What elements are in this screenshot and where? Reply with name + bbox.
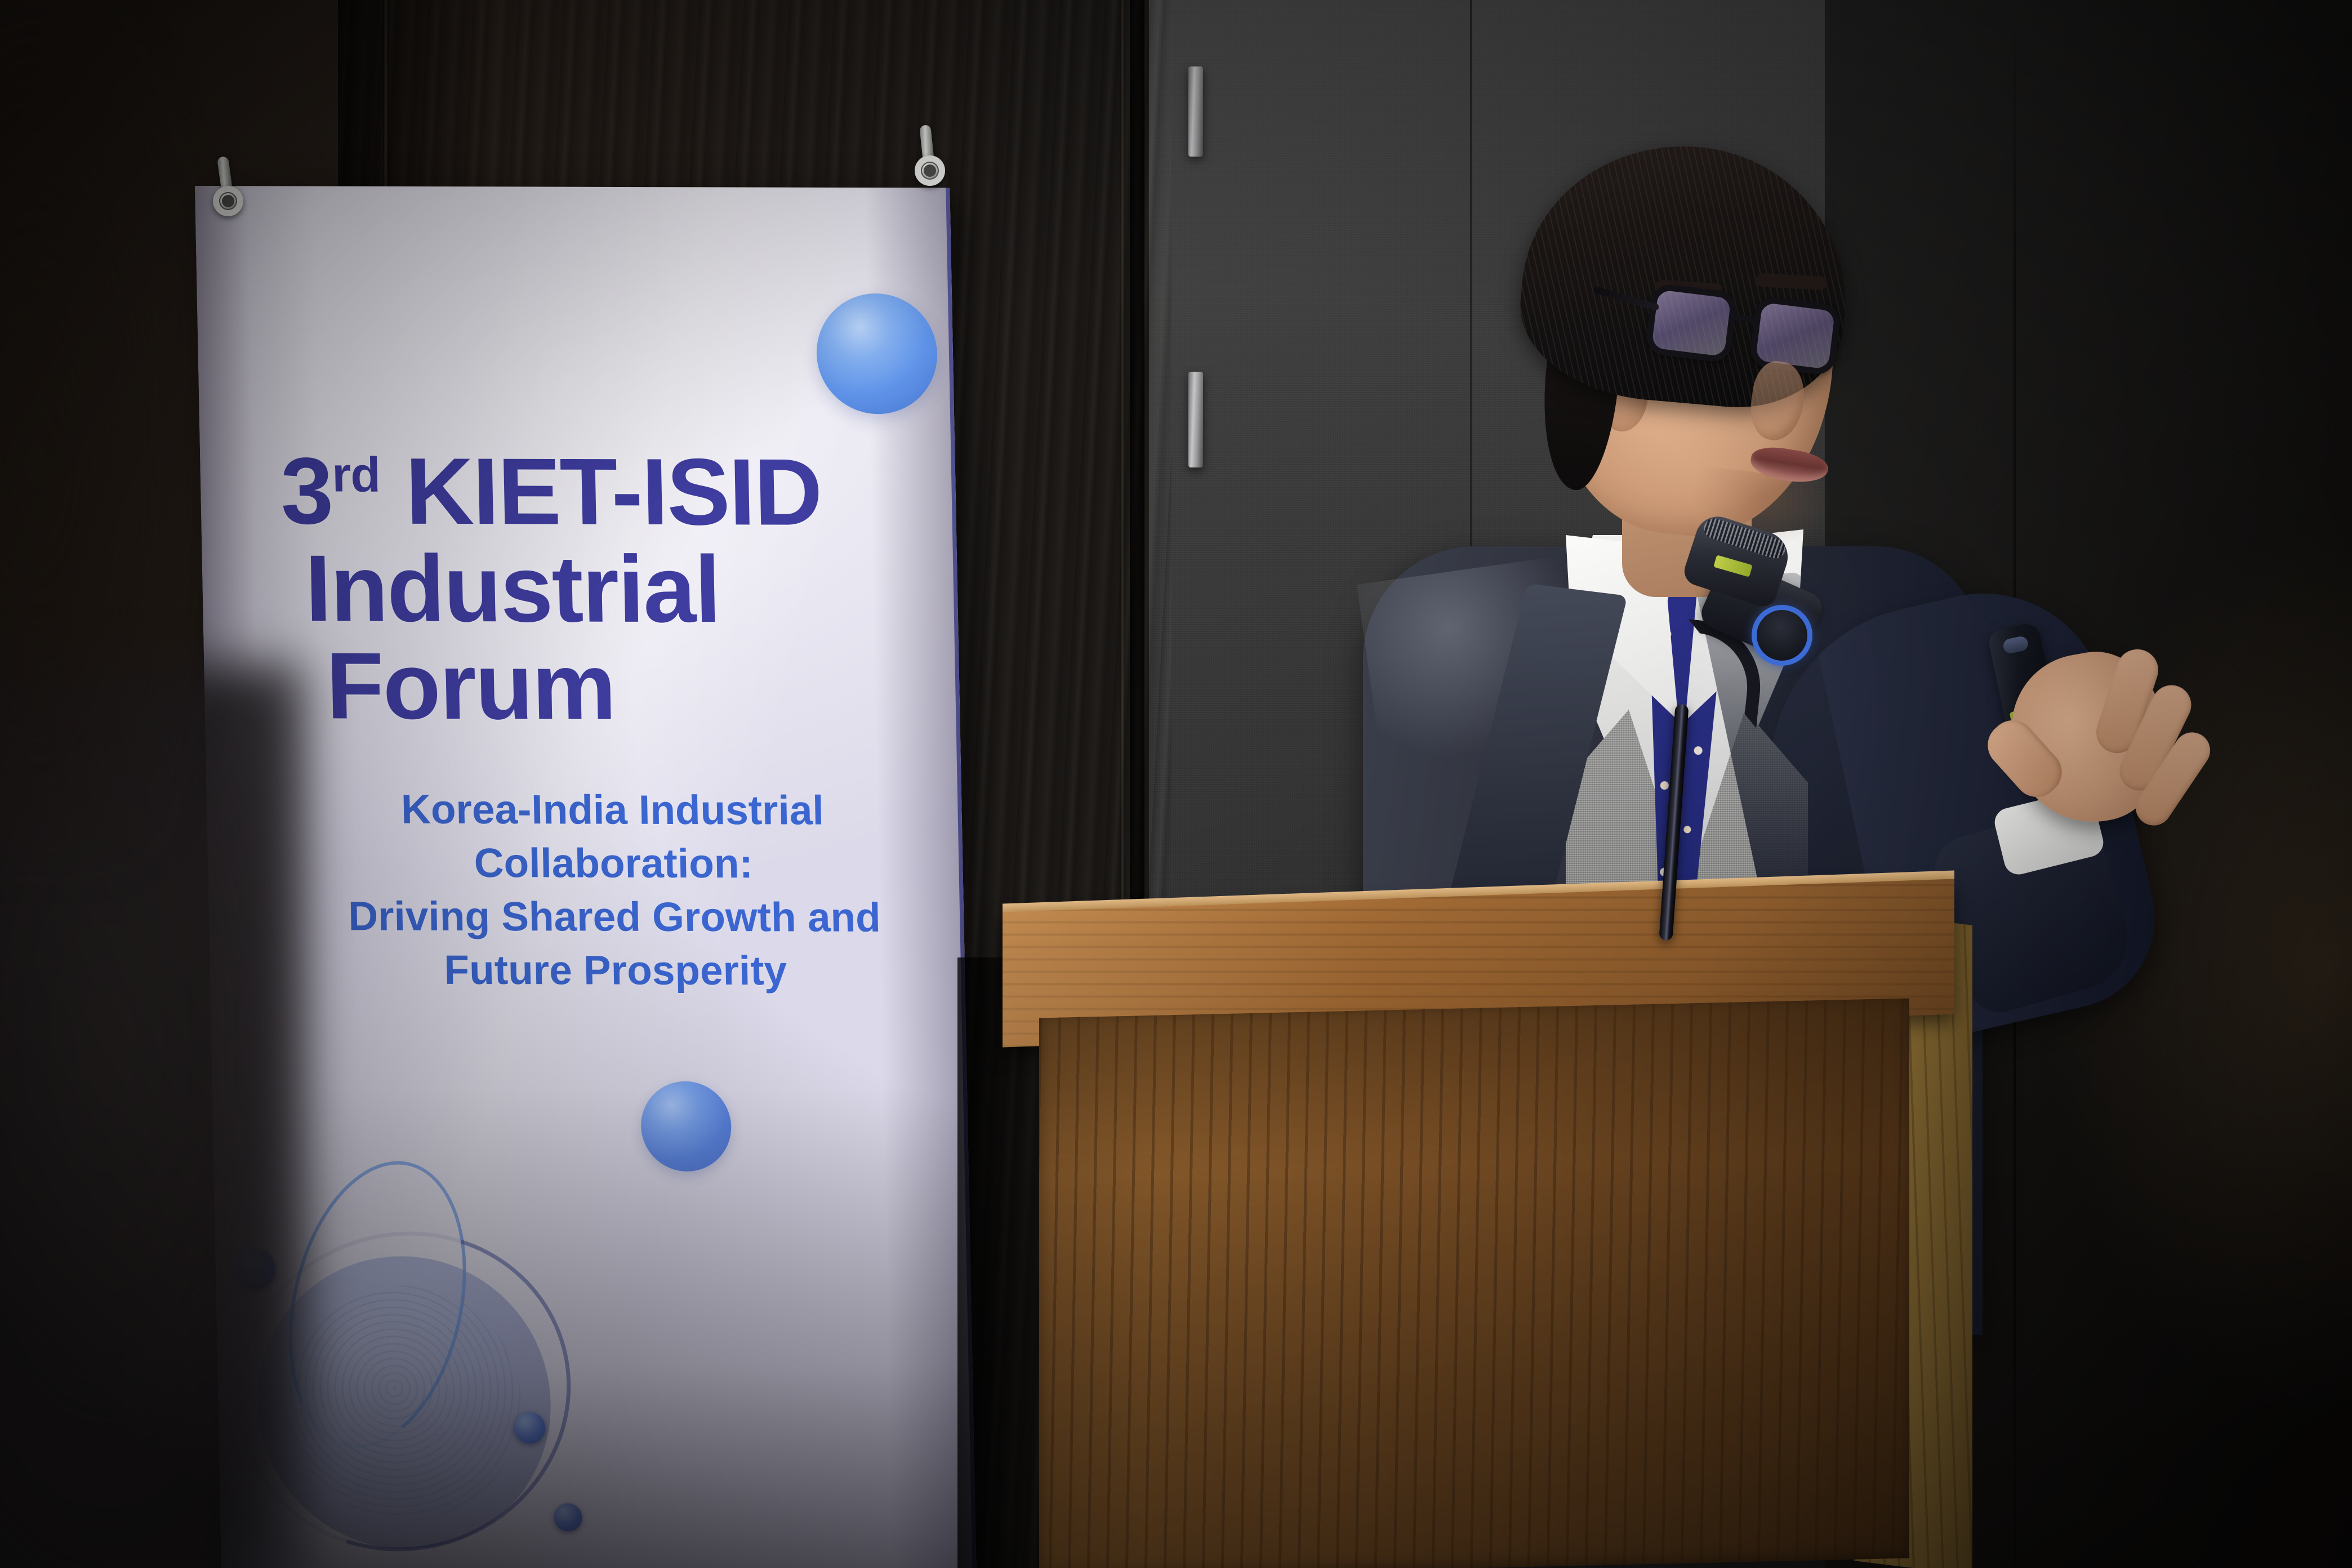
banner-subtitle-line2: Collaboration: bbox=[280, 836, 946, 892]
banner-grommet-right bbox=[915, 155, 945, 186]
event-banner: 3rd KIET-ISID Industrial Forum Korea-Ind… bbox=[195, 186, 977, 1568]
banner-subtitle-line4: Future Prosperity bbox=[283, 943, 948, 999]
podium-body bbox=[1039, 998, 1909, 1568]
foreground-blur-edge bbox=[0, 0, 191, 845]
banner-title-ordinal-suffix: rd bbox=[331, 447, 380, 502]
door-hinge-icon bbox=[1188, 66, 1203, 157]
banner-title: 3rd KIET-ISID Industrial Forum bbox=[280, 442, 939, 736]
banner-title-line1-rest: KIET-ISID bbox=[379, 438, 822, 545]
banner-subtitle: Korea-India Industrial Collaboration: Dr… bbox=[279, 783, 948, 999]
eyeglass-lens-right bbox=[1748, 296, 1842, 377]
eyeglass-lens-left bbox=[1645, 283, 1738, 364]
presenter-button-icon bbox=[2002, 635, 2029, 655]
banner-subtitle-line1: Korea-India Industrial bbox=[279, 783, 945, 838]
banner-subtitle-line3: Driving Shared Growth and bbox=[282, 890, 947, 945]
banner-title-line3: Forum bbox=[325, 637, 939, 736]
banner-title-ordinal: 3 bbox=[280, 438, 333, 544]
banner-title-line2: Industrial bbox=[304, 540, 937, 639]
banner-grommet-left bbox=[213, 186, 243, 216]
banner-bottom-shadow bbox=[212, 1087, 977, 1568]
photo-scene: 3rd KIET-ISID Industrial Forum Korea-Ind… bbox=[0, 0, 2352, 1568]
door-hinge-icon bbox=[1188, 372, 1203, 467]
